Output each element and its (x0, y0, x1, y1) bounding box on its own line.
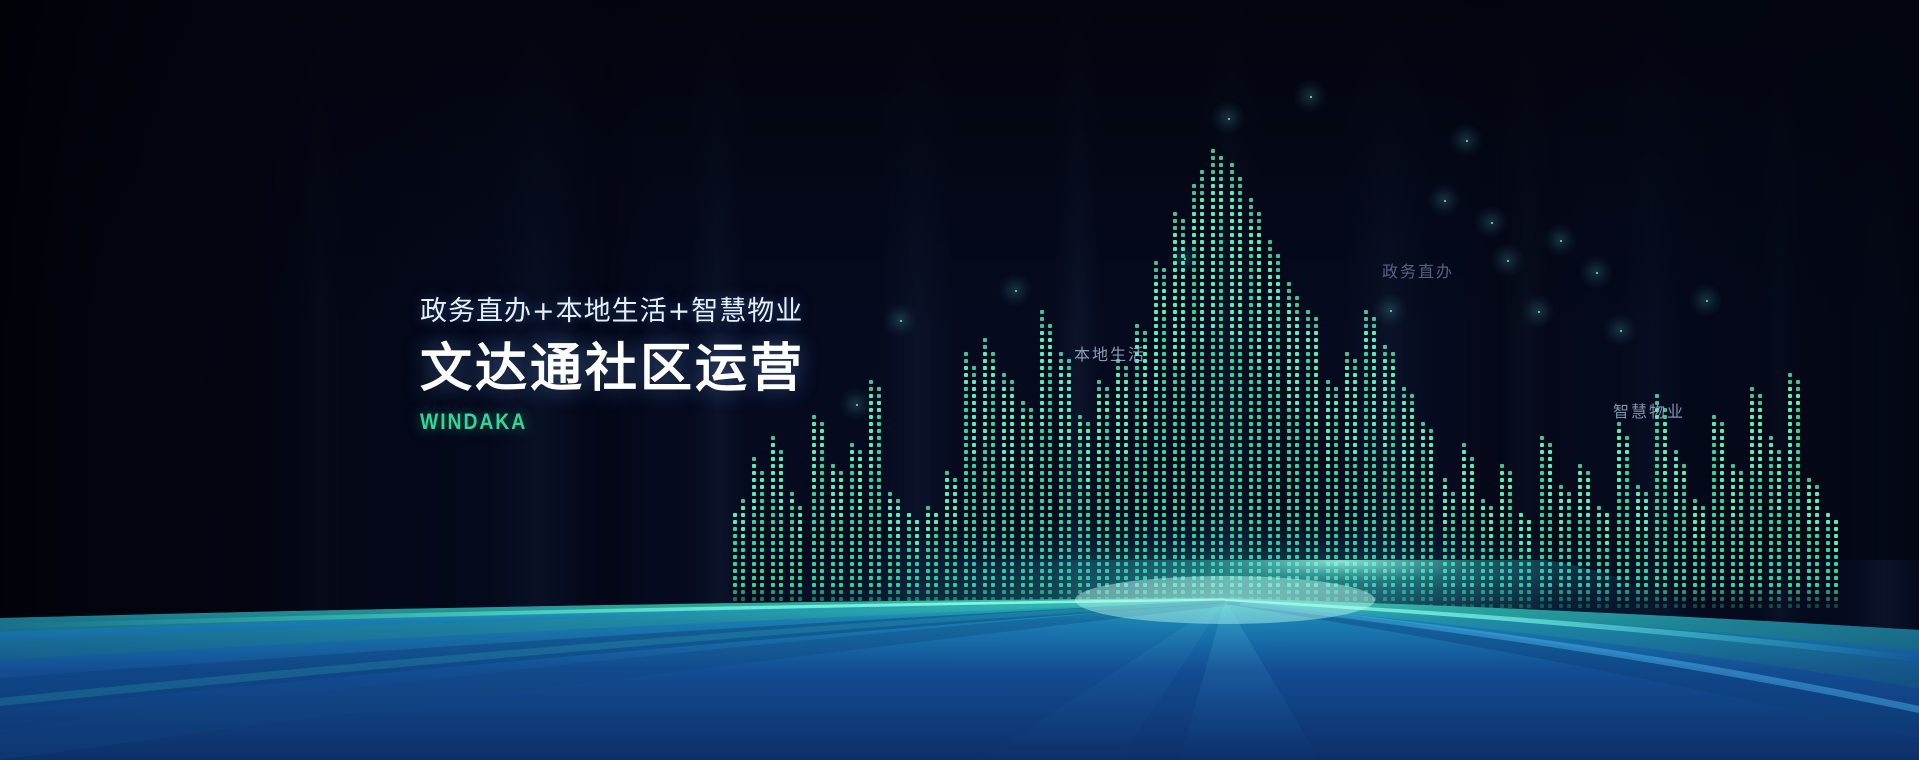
sparkle-dot (1466, 140, 1468, 142)
headline-copy-block: 政务直办+本地生活+智慧物业 文达通社区运营 WINDAKA (420, 296, 980, 435)
sparkle-dot (1390, 310, 1392, 312)
sparkle-dot (1444, 200, 1446, 202)
sparkle-dot (1706, 300, 1708, 302)
sparkle-dot (1184, 258, 1186, 260)
sparkle-dot (1310, 96, 1312, 98)
sparkle-dot (1228, 118, 1230, 120)
sparkle-dot (1015, 290, 1017, 292)
banner-subtitle: 政务直办+本地生活+智慧物业 (420, 296, 980, 328)
sparkle-dot (1491, 222, 1493, 224)
banner-hero: 政务直办+本地生活+智慧物业 文达通社区运营 WINDAKA 政务直办本地生活智… (0, 0, 1919, 760)
sparkle-dot (1596, 272, 1598, 274)
sparkle-dot (1507, 260, 1509, 262)
sparkle-dot (1560, 240, 1562, 242)
brand-wordmark: WINDAKA (420, 409, 913, 435)
background-right-vignette (1489, 0, 1919, 560)
category-tag-2: 智慧物业 (1613, 398, 1685, 422)
sparkle-dot (1538, 311, 1540, 313)
category-tag-0: 政务直办 (1382, 258, 1454, 282)
sparkle-dot (1620, 330, 1622, 332)
banner-headline: 文达通社区运营 (420, 340, 980, 398)
perspective-floor (0, 560, 1919, 760)
category-tag-1: 本地生活 (1074, 341, 1146, 365)
